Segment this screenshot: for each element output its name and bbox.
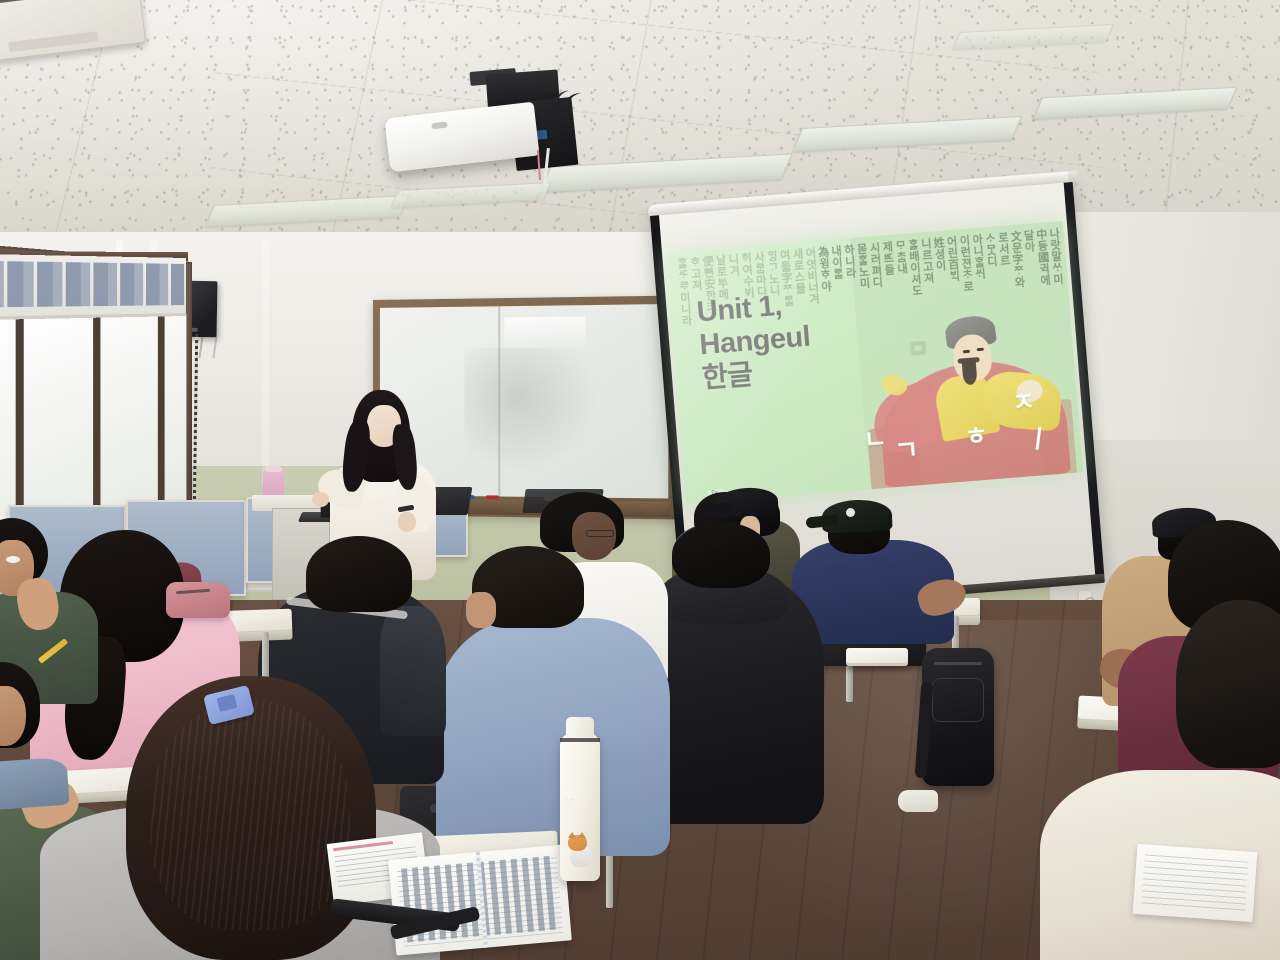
open-notebook[interactable] — [388, 845, 572, 956]
black-backpack[interactable] — [922, 648, 994, 786]
student-sleeve — [0, 757, 70, 812]
window-blind[interactable] — [0, 254, 186, 320]
jamo-hieut-icon: ㅎ — [963, 416, 989, 454]
pink-shoulder-bag[interactable] — [166, 582, 230, 618]
slide-title: Unit 1, Hangeul 한글 — [696, 281, 893, 393]
water-bottle[interactable]: · · ·· · — [560, 733, 600, 881]
student-hair — [672, 522, 770, 588]
classroom-scene: 나랏말ᄊᆞ미中듕國귁에달아文문字ᄍᆞ와로서르ᄉᆞᄆᆞᆺ디아니ᄒᆞᆯᄊᆡ이런젼ᄎᆞ… — [0, 0, 1280, 960]
sejong-eye — [963, 350, 970, 354]
glasses-icon — [586, 530, 614, 537]
whiteboard-glare — [504, 317, 585, 352]
backpack-pocket — [932, 678, 984, 722]
window-mullion — [93, 309, 100, 514]
projected-slide: 나랏말ᄊᆞ미中듕國귁에달아文문字ᄍᆞ와로서르ᄉᆞᄆᆞᆺ디아니ᄒᆞᆯᄊᆡ이런젼ᄎᆞ… — [666, 221, 1083, 504]
whiteboard-reflection — [464, 347, 597, 470]
jamo-nieun-icon: ㄴ — [862, 419, 888, 457]
student-eye — [6, 556, 20, 563]
student-hair — [306, 536, 412, 612]
bottle-cap[interactable] — [566, 717, 594, 737]
student-ear — [466, 592, 496, 628]
book-right-desk[interactable] — [1133, 844, 1258, 922]
king-sejong-illustration — [858, 303, 1079, 489]
marker-red[interactable] — [486, 495, 499, 499]
blind-pattern — [0, 261, 184, 308]
window-mullion — [16, 305, 24, 520]
book-text-lines — [1141, 854, 1248, 913]
jamo-giyeok-icon: ㄱ — [893, 429, 920, 468]
white-sneaker — [898, 790, 938, 812]
student-body — [436, 618, 670, 856]
student-hair — [1176, 600, 1280, 768]
sejong-eye — [977, 348, 984, 352]
desk — [846, 648, 908, 666]
backpack-zipper — [934, 662, 982, 665]
cat-illustration-icon — [567, 835, 593, 867]
wall-seam — [262, 240, 269, 485]
jamo-i-icon: ㅣ — [1025, 418, 1052, 457]
jamo-mieum-icon: ㅁ — [906, 328, 930, 364]
instructor-hand-left — [312, 492, 329, 507]
speaker-bracket — [198, 336, 217, 358]
cap-logo — [846, 508, 855, 517]
hair-strand-texture — [150, 700, 350, 930]
instructor-hand-right — [398, 512, 416, 532]
cat-ear — [568, 832, 576, 838]
bottle-label-text: · · ·· · — [567, 797, 573, 808]
cat-ear — [578, 832, 586, 838]
window-mullion — [158, 312, 165, 508]
bottle-ring — [560, 738, 600, 742]
student-arm — [380, 606, 446, 736]
jamo-jieut-icon: ㅈ — [1011, 382, 1037, 420]
